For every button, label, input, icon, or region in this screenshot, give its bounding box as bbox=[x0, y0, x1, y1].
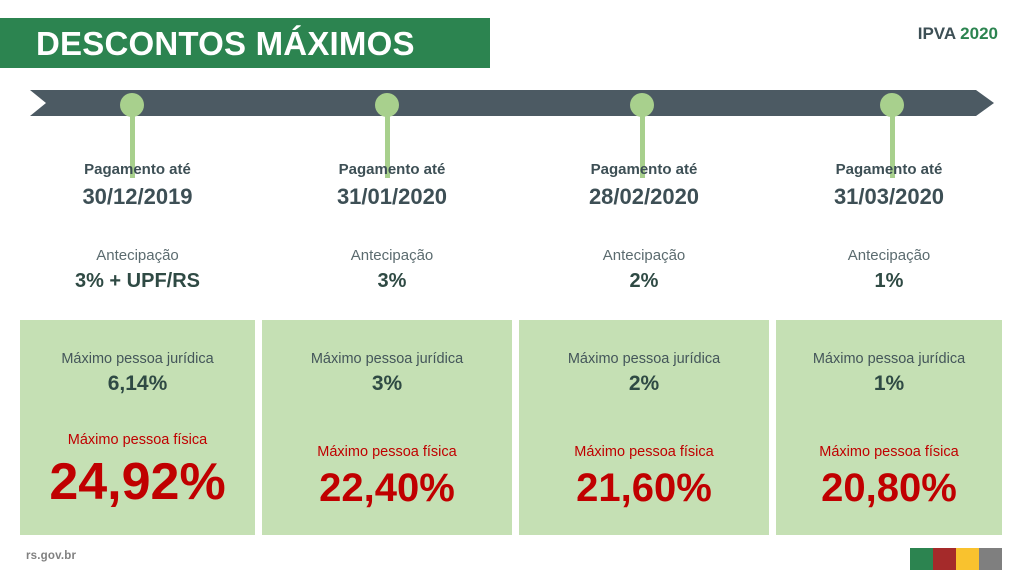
antecipacao-label-1: Antecipação bbox=[20, 246, 255, 266]
government-logo-blocks bbox=[910, 548, 1002, 570]
pay-label-2: Pagamento até bbox=[272, 160, 512, 180]
logo-block-yellow bbox=[956, 548, 979, 570]
brand-ipva-2020: IPVA2020 bbox=[918, 24, 998, 44]
antecipacao-label-4: Antecipação bbox=[776, 246, 1002, 266]
column-header-4: Pagamento até 31/03/2020 Antecipação 1% bbox=[776, 160, 1002, 294]
pj-value-3: 2% bbox=[519, 371, 769, 397]
discount-card-4: Máximo pessoa jurídica 1% Máximo pessoa … bbox=[776, 320, 1002, 535]
timeline-dot-1 bbox=[120, 93, 144, 117]
timeline-bar bbox=[30, 90, 994, 116]
timeline bbox=[30, 90, 994, 116]
title-banner: DESCONTOS MÁXIMOS bbox=[0, 18, 490, 68]
column-header-3: Pagamento até 28/02/2020 Antecipação 2% bbox=[524, 160, 764, 294]
logo-block-red bbox=[933, 548, 956, 570]
pf-label-3: Máximo pessoa física bbox=[519, 443, 769, 462]
timeline-dot-2 bbox=[375, 93, 399, 117]
discount-card-1: Máximo pessoa jurídica 6,14% Máximo pess… bbox=[20, 320, 255, 535]
pj-label-3: Máximo pessoa jurídica bbox=[519, 350, 769, 369]
pay-label-3: Pagamento até bbox=[524, 160, 764, 180]
discount-card-3: Máximo pessoa jurídica 2% Máximo pessoa … bbox=[519, 320, 769, 535]
pay-date-1: 30/12/2019 bbox=[20, 182, 255, 212]
antecipacao-label-2: Antecipação bbox=[272, 246, 512, 266]
antecipacao-value-2: 3% bbox=[272, 268, 512, 294]
pay-label-1: Pagamento até bbox=[20, 160, 255, 180]
logo-block-green bbox=[910, 548, 933, 570]
column-header-2: Pagamento até 31/01/2020 Antecipação 3% bbox=[272, 160, 512, 294]
pf-label-2: Máximo pessoa física bbox=[262, 443, 512, 462]
antecipacao-value-3: 2% bbox=[524, 268, 764, 294]
brand-name: IPVA bbox=[918, 24, 956, 43]
antecipacao-value-1: 3% + UPF/RS bbox=[20, 268, 255, 294]
footer-website: rs.gov.br bbox=[26, 550, 76, 562]
pay-date-2: 31/01/2020 bbox=[272, 182, 512, 212]
infographic-slide: DESCONTOS MÁXIMOS IPVA2020 Pagamento até… bbox=[0, 0, 1024, 576]
pj-label-2: Máximo pessoa jurídica bbox=[262, 350, 512, 369]
pj-value-4: 1% bbox=[776, 371, 1002, 397]
pf-label-4: Máximo pessoa física bbox=[776, 443, 1002, 462]
pay-date-3: 28/02/2020 bbox=[524, 182, 764, 212]
pay-label-4: Pagamento até bbox=[776, 160, 1002, 180]
pf-value-4: 20,80% bbox=[776, 468, 1002, 508]
antecipacao-label-3: Antecipação bbox=[524, 246, 764, 266]
pf-value-3: 21,60% bbox=[519, 468, 769, 508]
pf-label-1: Máximo pessoa física bbox=[20, 431, 255, 450]
column-header-1: Pagamento até 30/12/2019 Antecipação 3% … bbox=[20, 160, 255, 294]
timeline-dot-3 bbox=[630, 93, 654, 117]
pj-label-4: Máximo pessoa jurídica bbox=[776, 350, 1002, 369]
timeline-dot-4 bbox=[880, 93, 904, 117]
discount-card-2: Máximo pessoa jurídica 3% Máximo pessoa … bbox=[262, 320, 512, 535]
logo-block-gray bbox=[979, 548, 1002, 570]
pj-value-1: 6,14% bbox=[20, 371, 255, 397]
pay-date-4: 31/03/2020 bbox=[776, 182, 1002, 212]
antecipacao-value-4: 1% bbox=[776, 268, 1002, 294]
page-title: DESCONTOS MÁXIMOS bbox=[0, 27, 415, 60]
brand-year: 2020 bbox=[960, 24, 998, 43]
pj-value-2: 3% bbox=[262, 371, 512, 397]
pf-value-1: 24,92% bbox=[20, 456, 255, 508]
pj-label-1: Máximo pessoa jurídica bbox=[20, 350, 255, 369]
pf-value-2: 22,40% bbox=[262, 468, 512, 508]
